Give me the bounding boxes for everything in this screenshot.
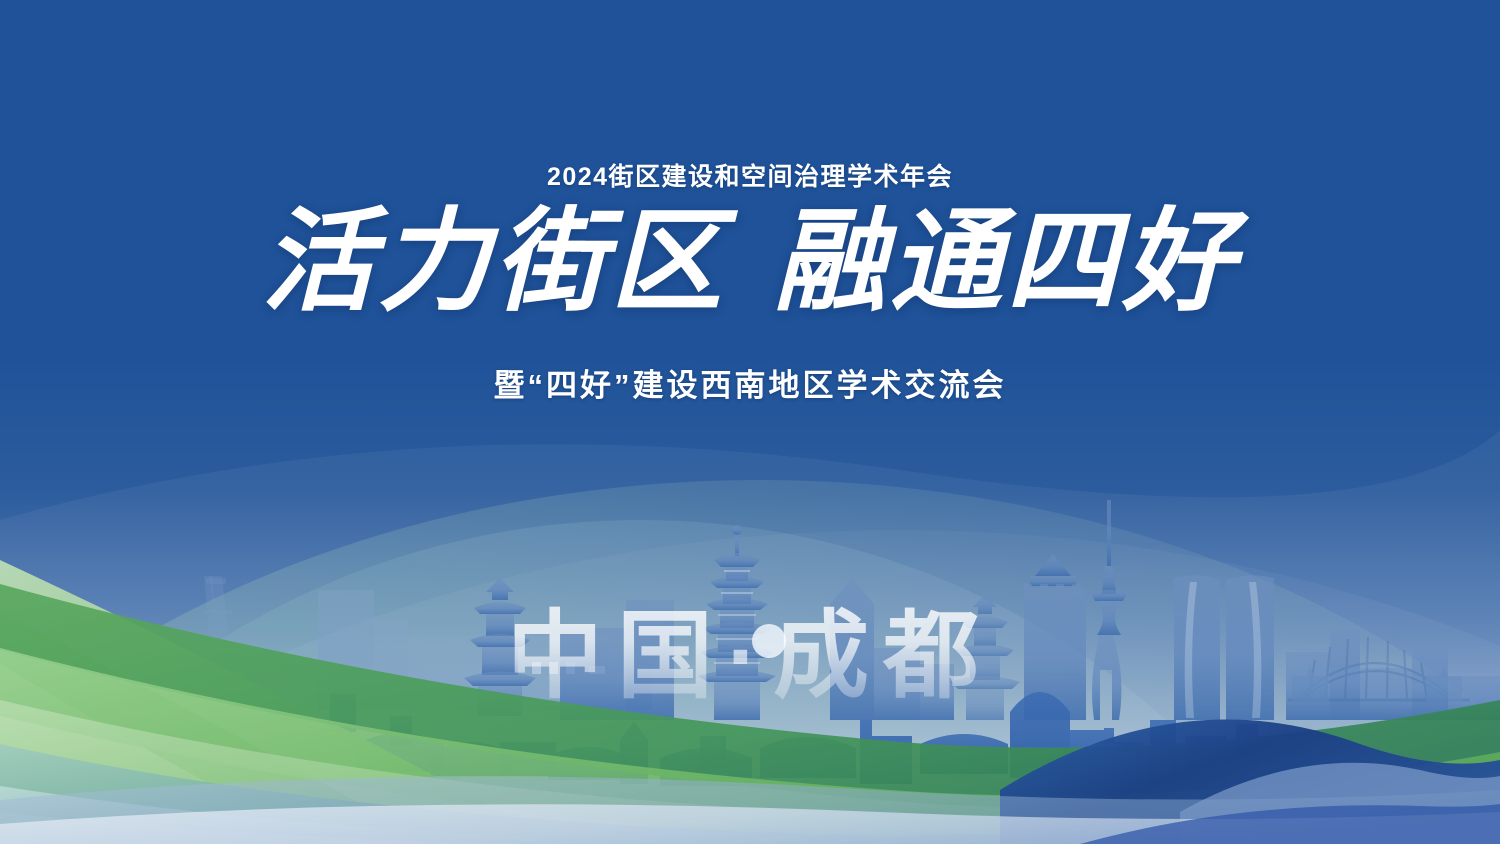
banner-background-artwork bbox=[0, 0, 1500, 844]
conference-banner: 2024街区建设和空间治理学术年会 活力街区融通四好 暨“四好”建设西南地区学术… bbox=[0, 0, 1500, 844]
